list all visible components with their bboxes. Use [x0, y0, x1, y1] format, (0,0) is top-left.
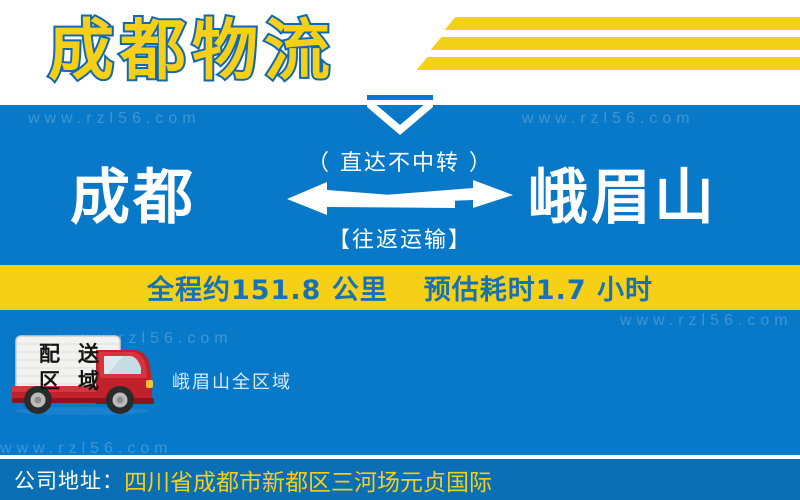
- logistics-poster: 成都物流 www.rzl56.com www.rzl56.com www.rzl…: [0, 0, 800, 500]
- distance-stat: 全程约151.8 公里: [147, 268, 388, 307]
- route-note-bottom: 【往返运输】: [270, 222, 530, 254]
- watermark: www.rzl56.com: [28, 110, 201, 128]
- chevron-down-icon: [367, 95, 433, 137]
- stripe-3: [417, 57, 800, 70]
- coverage-area-label: 峨眉山全区域: [172, 368, 292, 394]
- duration-stat: 预估耗时1.7 小时: [424, 268, 653, 307]
- footer-bar: 公司地址： 四川省成都市新都区三河场元贞国际: [0, 459, 800, 500]
- footer-address-label: 公司地址：: [14, 465, 124, 495]
- header-band: 成都物流: [0, 0, 800, 100]
- bidirectional-arrow-icon: [285, 178, 515, 218]
- destination-city: 峨眉山: [528, 168, 717, 228]
- watermark: www.rzl56.com: [620, 312, 793, 330]
- decorative-stripes: [400, 0, 800, 100]
- footer-address-value: 四川省成都市新都区三河场元贞国际: [124, 463, 492, 497]
- route-note-top: （ 直达不中转 ）: [270, 145, 530, 177]
- page-title: 成都物流: [48, 4, 336, 98]
- watermark: www.rzl56.com: [522, 110, 695, 128]
- delivery-truck-icon: 配 送 区 域: [8, 332, 156, 416]
- stats-bar: 全程约151.8 公里 预估耗时1.7 小时: [0, 265, 800, 310]
- stripe-1: [445, 17, 800, 30]
- stripe-2: [431, 37, 800, 50]
- origin-city: 成都: [70, 168, 196, 228]
